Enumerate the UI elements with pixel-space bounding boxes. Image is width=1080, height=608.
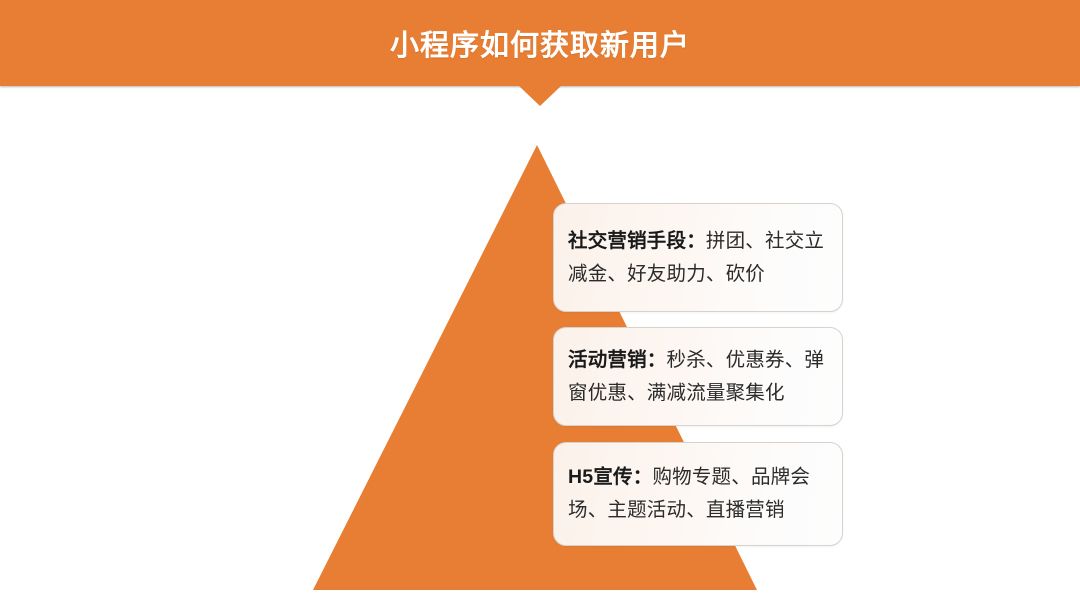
list-item[interactable]: 活动营销：秒杀、优惠券、弹窗优惠、满减流量聚集化 (553, 327, 843, 426)
header-banner: 小程序如何获取新用户 (0, 0, 1080, 86)
list-item[interactable]: 社交营销手段：拼团、社交立减金、好友助力、砍价 (553, 203, 843, 312)
card-label: 社交营销手段： (568, 230, 706, 252)
card-text: 活动营销：秒杀、优惠券、弹窗优惠、满减流量聚集化 (568, 344, 828, 410)
list-item[interactable]: H5宣传：购物专题、品牌会场、主题活动、直播营销 (553, 442, 843, 546)
card-label: H5宣传： (568, 466, 652, 488)
page-title: 小程序如何获取新用户 (0, 0, 1080, 86)
card-text: 社交营销手段：拼团、社交立减金、好友助力、砍价 (568, 225, 828, 291)
triangle-down-icon (519, 86, 561, 106)
card-label: 活动营销： (568, 349, 667, 371)
card-text: H5宣传：购物专题、品牌会场、主题活动、直播营销 (568, 461, 828, 527)
slide-canvas: 小程序如何获取新用户 社交营销手段：拼团、社交立减金、好友助力、砍价 活动营销：… (0, 0, 1080, 608)
